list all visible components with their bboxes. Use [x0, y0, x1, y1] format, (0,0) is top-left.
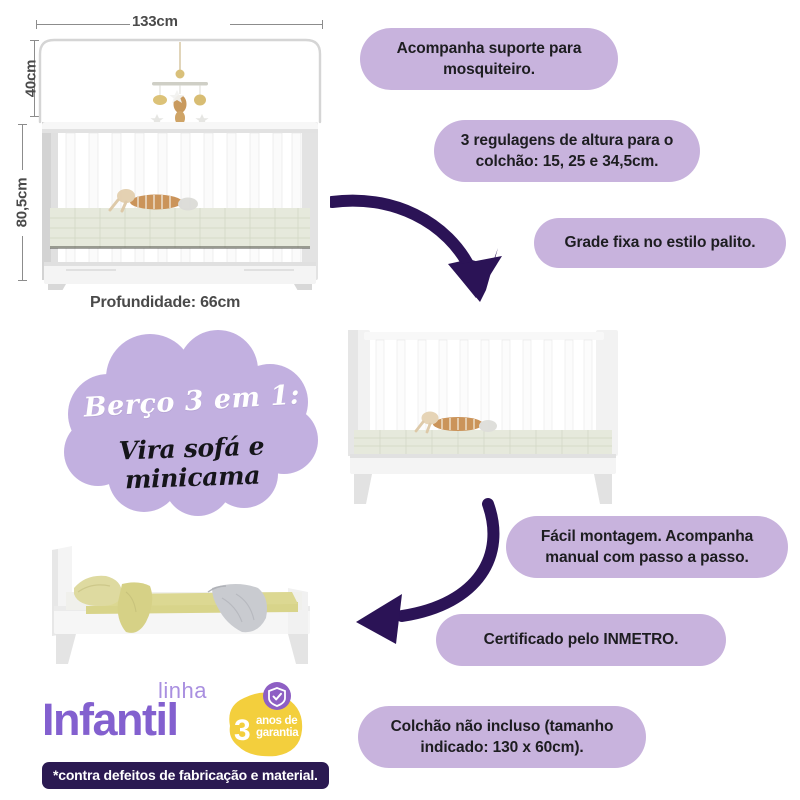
- bubble-text: Grade fixa no estilo palito.: [565, 232, 756, 253]
- logo-infantil-text: Infantil: [42, 694, 177, 746]
- dimension-side-height-label: 80,5cm: [14, 165, 31, 241]
- infographic-page: 133cm 40cm 80,5cm Profundidade: 66cm: [0, 0, 800, 800]
- dimension-width-label: 133cm: [132, 13, 178, 30]
- product-image-minibed: [30, 536, 330, 672]
- bubble-text: Colchão não incluso (tamanho indicado: 1…: [376, 716, 628, 759]
- bubble-inmetro: Certificado pelo INMETRO.: [436, 614, 726, 666]
- cloud-callout: Berço 3 em 1: Vira sofá e minicama: [58, 330, 326, 520]
- baby-mobile-icon: [150, 42, 208, 125]
- bubble-text: Acompanha suporte para mosquiteiro.: [378, 38, 600, 81]
- dimension-depth-label: Profundidade: 66cm: [90, 294, 240, 312]
- bubble-mosquito-support: Acompanha suporte para mosquiteiro.: [360, 28, 618, 90]
- bubble-easy-assembly: Fácil montagem. Acompanha manual com pas…: [506, 516, 788, 578]
- disclaimer-banner: *contra defeitos de fabricação e materia…: [42, 762, 329, 789]
- product-image-daybed: [340, 322, 626, 512]
- badge-warranty-text: anos de garantia: [256, 715, 308, 739]
- warranty-badge: 3 anos de garantia: [220, 682, 312, 760]
- cloud-shape-icon: [64, 330, 318, 516]
- badge-number: 3: [234, 716, 251, 746]
- arrow-crib-to-daybed: [330, 186, 520, 306]
- bubble-fixed-rail: Grade fixa no estilo palito.: [534, 218, 786, 268]
- brand-logo-block: linha Infantil 3 anos de garantia *contr…: [38, 676, 338, 788]
- product-image-crib: [30, 30, 330, 290]
- bubble-text: Certificado pelo INMETRO.: [484, 629, 679, 650]
- bubble-text: 3 regulagens de altura para o colchão: 1…: [452, 130, 682, 173]
- bubble-mattress-not-included: Colchão não incluso (tamanho indicado: 1…: [358, 706, 646, 768]
- bubble-mattress-heights: 3 regulagens de altura para o colchão: 1…: [434, 120, 700, 182]
- bubble-text: Fácil montagem. Acompanha manual com pas…: [524, 526, 770, 569]
